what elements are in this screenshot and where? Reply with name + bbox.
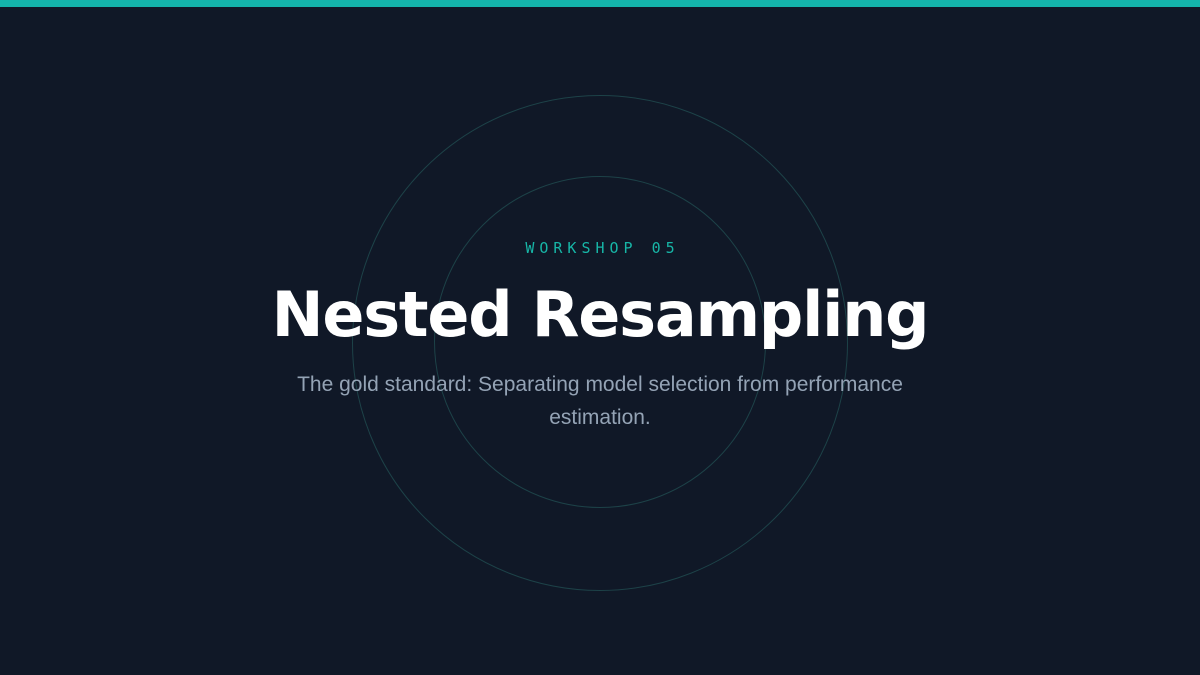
slide-content: WORKSHOP 05 Nested Resampling The gold s… (0, 0, 1200, 675)
title-slide: WORKSHOP 05 Nested Resampling The gold s… (0, 0, 1200, 675)
page-title: Nested Resampling (272, 282, 929, 347)
workshop-eyebrow-label: WORKSHOP 05 (520, 241, 679, 256)
slide-subtitle: The gold standard: Separating model sele… (280, 369, 920, 434)
